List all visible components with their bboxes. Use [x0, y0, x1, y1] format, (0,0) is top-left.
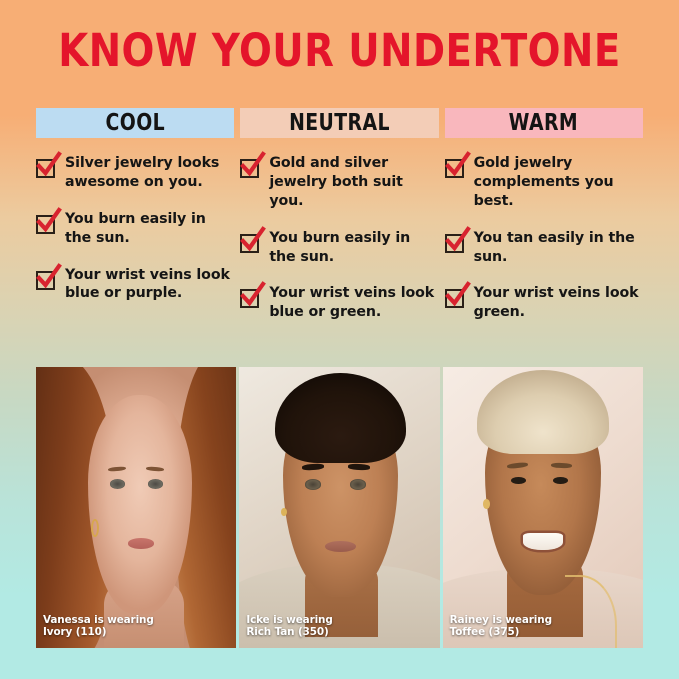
- list-item-label: Gold jewelry complements you best.: [474, 154, 639, 211]
- model-photo-icke: Icke is wearing Rich Tan (350): [239, 367, 439, 648]
- list-item-label: Your wrist veins look green.: [474, 284, 639, 322]
- column-warm: WARM Gold jewelry complements you best. …: [445, 108, 643, 322]
- list-item: Gold jewelry complements you best.: [445, 154, 639, 211]
- list-item-label: Your wrist veins look blue or purple.: [65, 266, 230, 304]
- page-title-container: KNOW YOUR UNDERTONE: [0, 0, 679, 73]
- checkbox-checked-icon: [445, 232, 466, 253]
- column-header-warm: WARM: [445, 108, 643, 138]
- photo-caption-line1: Vanessa is wearing: [43, 614, 154, 627]
- lips: [325, 541, 355, 552]
- model-photo-row: Vanessa is wearing Ivory (110) Icke is w…: [36, 367, 643, 648]
- list-item-label: You burn easily in the sun.: [65, 210, 230, 248]
- list-item-label: Gold and silver jewelry both suit you.: [269, 154, 434, 211]
- column-neutral: NEUTRAL Gold and silver jewelry both sui…: [240, 108, 438, 322]
- checkbox-checked-icon: [36, 213, 57, 234]
- photo-caption-line2: Toffee (375): [450, 626, 552, 639]
- eyebrow-right: [551, 462, 572, 468]
- list-item-label: Your wrist veins look blue or green.: [269, 284, 434, 322]
- list-item-label: You tan easily in the sun.: [474, 229, 639, 267]
- checkbox-checked-icon: [240, 232, 261, 253]
- eye-right: [553, 477, 568, 484]
- photo-caption-line1: Rainey is wearing: [450, 614, 552, 627]
- photo-caption-line2: Rich Tan (350): [246, 626, 332, 639]
- photo-caption-line2: Ivory (110): [43, 626, 154, 639]
- list-item: You tan easily in the sun.: [445, 229, 639, 267]
- list-item: Your wrist veins look blue or green.: [240, 284, 434, 322]
- eye-left: [110, 479, 125, 489]
- list-item: Silver jewelry looks awesome on you.: [36, 154, 230, 192]
- checkbox-checked-icon: [240, 157, 261, 178]
- list-item: Your wrist veins look blue or purple.: [36, 266, 230, 304]
- column-cool: COOL Silver jewelry looks awesome on you…: [36, 108, 234, 322]
- model-photo-rainey: Rainey is wearing Toffee (375): [443, 367, 643, 648]
- photo-caption-line1: Icke is wearing: [246, 614, 332, 627]
- list-item: You burn easily in the sun.: [36, 210, 230, 248]
- photo-caption-icke: Icke is wearing Rich Tan (350): [246, 614, 332, 639]
- eye-left: [511, 477, 526, 484]
- checklist-cool: Silver jewelry looks awesome on you. You…: [36, 154, 234, 303]
- column-header-cool: COOL: [36, 108, 234, 138]
- model-photo-vanessa: Vanessa is wearing Ivory (110): [36, 367, 236, 648]
- checklist-neutral: Gold and silver jewelry both suit you. Y…: [240, 154, 438, 322]
- photo-caption-vanessa: Vanessa is wearing Ivory (110): [43, 614, 154, 639]
- checkbox-checked-icon: [36, 269, 57, 290]
- page-title: KNOW YOUR UNDERTONE: [48, 28, 632, 73]
- checklist-warm: Gold jewelry complements you best. You t…: [445, 154, 643, 322]
- list-item-label: You burn easily in the sun.: [269, 229, 434, 267]
- smile: [523, 533, 563, 550]
- column-header-neutral-label: NEUTRAL: [289, 112, 390, 135]
- column-header-cool-label: COOL: [105, 112, 165, 135]
- earring-icon: [483, 499, 490, 509]
- list-item: You burn easily in the sun.: [240, 229, 434, 267]
- eye-left: [305, 479, 321, 489]
- eye-right: [148, 479, 163, 489]
- column-header-neutral: NEUTRAL: [240, 108, 438, 138]
- checkbox-checked-icon: [445, 287, 466, 308]
- photo-caption-rainey: Rainey is wearing Toffee (375): [450, 614, 552, 639]
- lips: [128, 538, 154, 548]
- undertone-columns: COOL Silver jewelry looks awesome on you…: [36, 108, 643, 322]
- list-item: Gold and silver jewelry both suit you.: [240, 154, 434, 211]
- undertone-infographic: KNOW YOUR UNDERTONE COOL Silver jewelry …: [0, 0, 679, 679]
- eye-right: [350, 479, 366, 489]
- face: [88, 395, 192, 614]
- checkbox-checked-icon: [445, 157, 466, 178]
- checkbox-checked-icon: [240, 287, 261, 308]
- list-item: Your wrist veins look green.: [445, 284, 639, 322]
- list-item-label: Silver jewelry looks awesome on you.: [65, 154, 230, 192]
- checkbox-checked-icon: [36, 157, 57, 178]
- column-header-warm-label: WARM: [509, 112, 578, 135]
